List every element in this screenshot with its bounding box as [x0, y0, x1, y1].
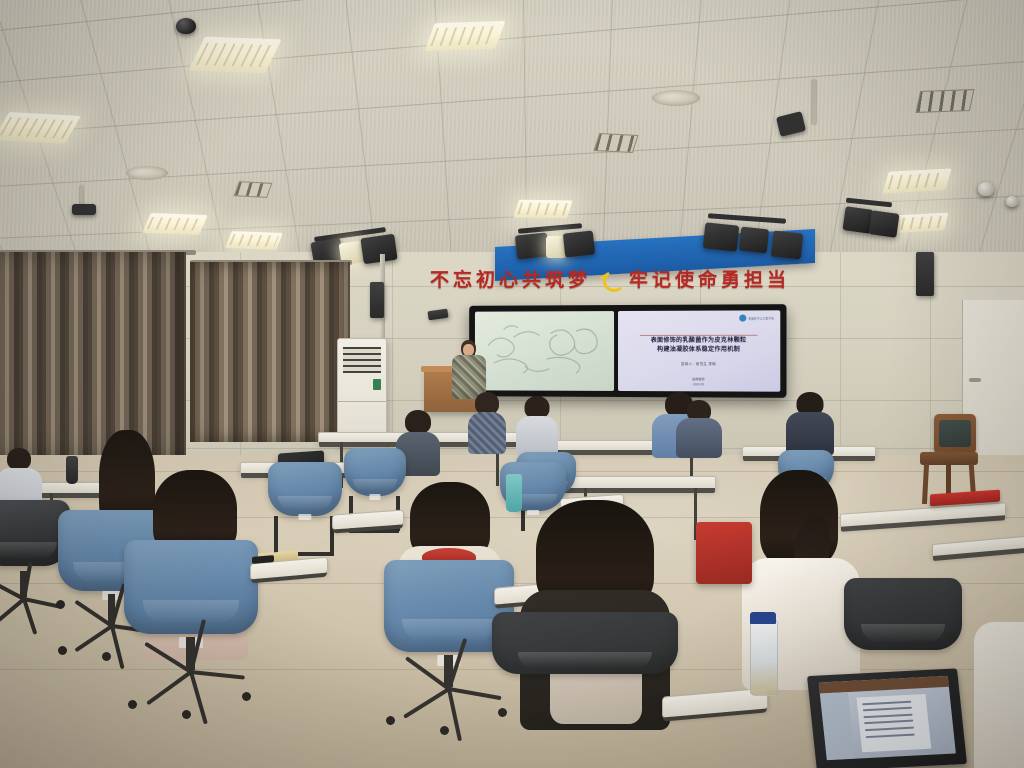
- whiteboard-handwriting: [475, 311, 614, 391]
- laptop-foreground[interactable]: [807, 668, 967, 768]
- recessed-panel-light: [882, 168, 951, 193]
- ceiling-speaker: [652, 90, 700, 106]
- slide-title: 表面修饰的乳酸菌作为皮克林颗粒 构建油凝胶体系稳定作用机制: [626, 337, 772, 355]
- window-curtain: [0, 252, 186, 457]
- water-bottle-dark[interactable]: [66, 456, 78, 484]
- water-bottle-blue-cap[interactable]: [750, 620, 778, 696]
- audience-person: [676, 400, 722, 458]
- projector-mount: [80, 186, 83, 206]
- office-chair[interactable]: [492, 612, 678, 768]
- projector: [72, 204, 96, 215]
- red-chair[interactable]: [696, 522, 752, 584]
- laptop-sidebar: [819, 692, 854, 761]
- slide-title-line-2: 构建油凝胶体系稳定作用机制: [626, 346, 772, 355]
- slide-date-label: 2023.05: [626, 382, 772, 387]
- recessed-panel-light: [188, 37, 281, 74]
- logo-mark-icon: [739, 315, 746, 322]
- party-emblem-icon: [597, 268, 623, 288]
- stage-light-rig: [700, 214, 810, 270]
- air-vent: [593, 133, 638, 153]
- whiteboard: [475, 311, 614, 391]
- camera-mount-stalk: [812, 80, 816, 124]
- office-chair[interactable]: [124, 540, 258, 720]
- recessed-panel-light: [142, 213, 208, 235]
- person-head: [7, 448, 31, 470]
- dome-camera: [1006, 196, 1018, 207]
- person-torso: [974, 622, 1024, 768]
- dome-camera: [978, 182, 994, 196]
- logo-text: 食品科学与工程学院: [748, 316, 774, 320]
- audience-person: [468, 392, 506, 454]
- presenter-person: [452, 340, 486, 398]
- wall-speaker: [916, 252, 934, 296]
- air-vent: [234, 181, 273, 198]
- presentation-board: 食品科学与工程学院 表面修饰的乳酸菌作为皮克林颗粒 构建油凝胶体系稳定作用机制 …: [469, 304, 786, 398]
- laptop-document: [856, 694, 931, 752]
- recessed-panel-light: [424, 21, 505, 51]
- recessed-panel-light: [513, 200, 573, 219]
- slide-divider: [640, 335, 757, 336]
- person-torso: [468, 412, 506, 454]
- person-torso: [516, 416, 558, 456]
- audience-person: [516, 396, 558, 456]
- slide-subtitle: 答辩人：研究生 李明: [626, 361, 772, 366]
- laptop-screen: [818, 676, 955, 761]
- projected-slide: 食品科学与工程学院 表面修饰的乳酸菌作为皮克林颗粒 构建油凝胶体系稳定作用机制 …: [618, 310, 780, 391]
- person-head: [405, 410, 431, 434]
- ceiling-speaker: [126, 166, 168, 180]
- recessed-panel-light: [225, 231, 283, 250]
- stage-light-rig: [512, 224, 598, 276]
- slide-footer: 指导教师 2023.05: [626, 377, 772, 387]
- person-torso: [676, 418, 722, 458]
- air-vent: [915, 89, 974, 113]
- chair-base: [0, 594, 64, 618]
- classroom-chair[interactable]: [268, 462, 342, 558]
- audience-person: [786, 392, 834, 456]
- university-logo: 食品科学与工程学院: [739, 314, 774, 321]
- audience-person: [974, 622, 1024, 768]
- stage-light-rig: [842, 198, 902, 244]
- bottle-cap: [750, 612, 776, 624]
- window-curtain: [190, 262, 350, 442]
- lecture-hall-photo: 不忘初心共筑梦 牢记使命勇担当: [0, 0, 1024, 768]
- wall-speaker: [370, 282, 384, 318]
- student-desk: [556, 476, 716, 490]
- dome-camera: [176, 18, 196, 34]
- slide-title-line-1: 表面修饰的乳酸菌作为皮克林颗粒: [626, 337, 772, 346]
